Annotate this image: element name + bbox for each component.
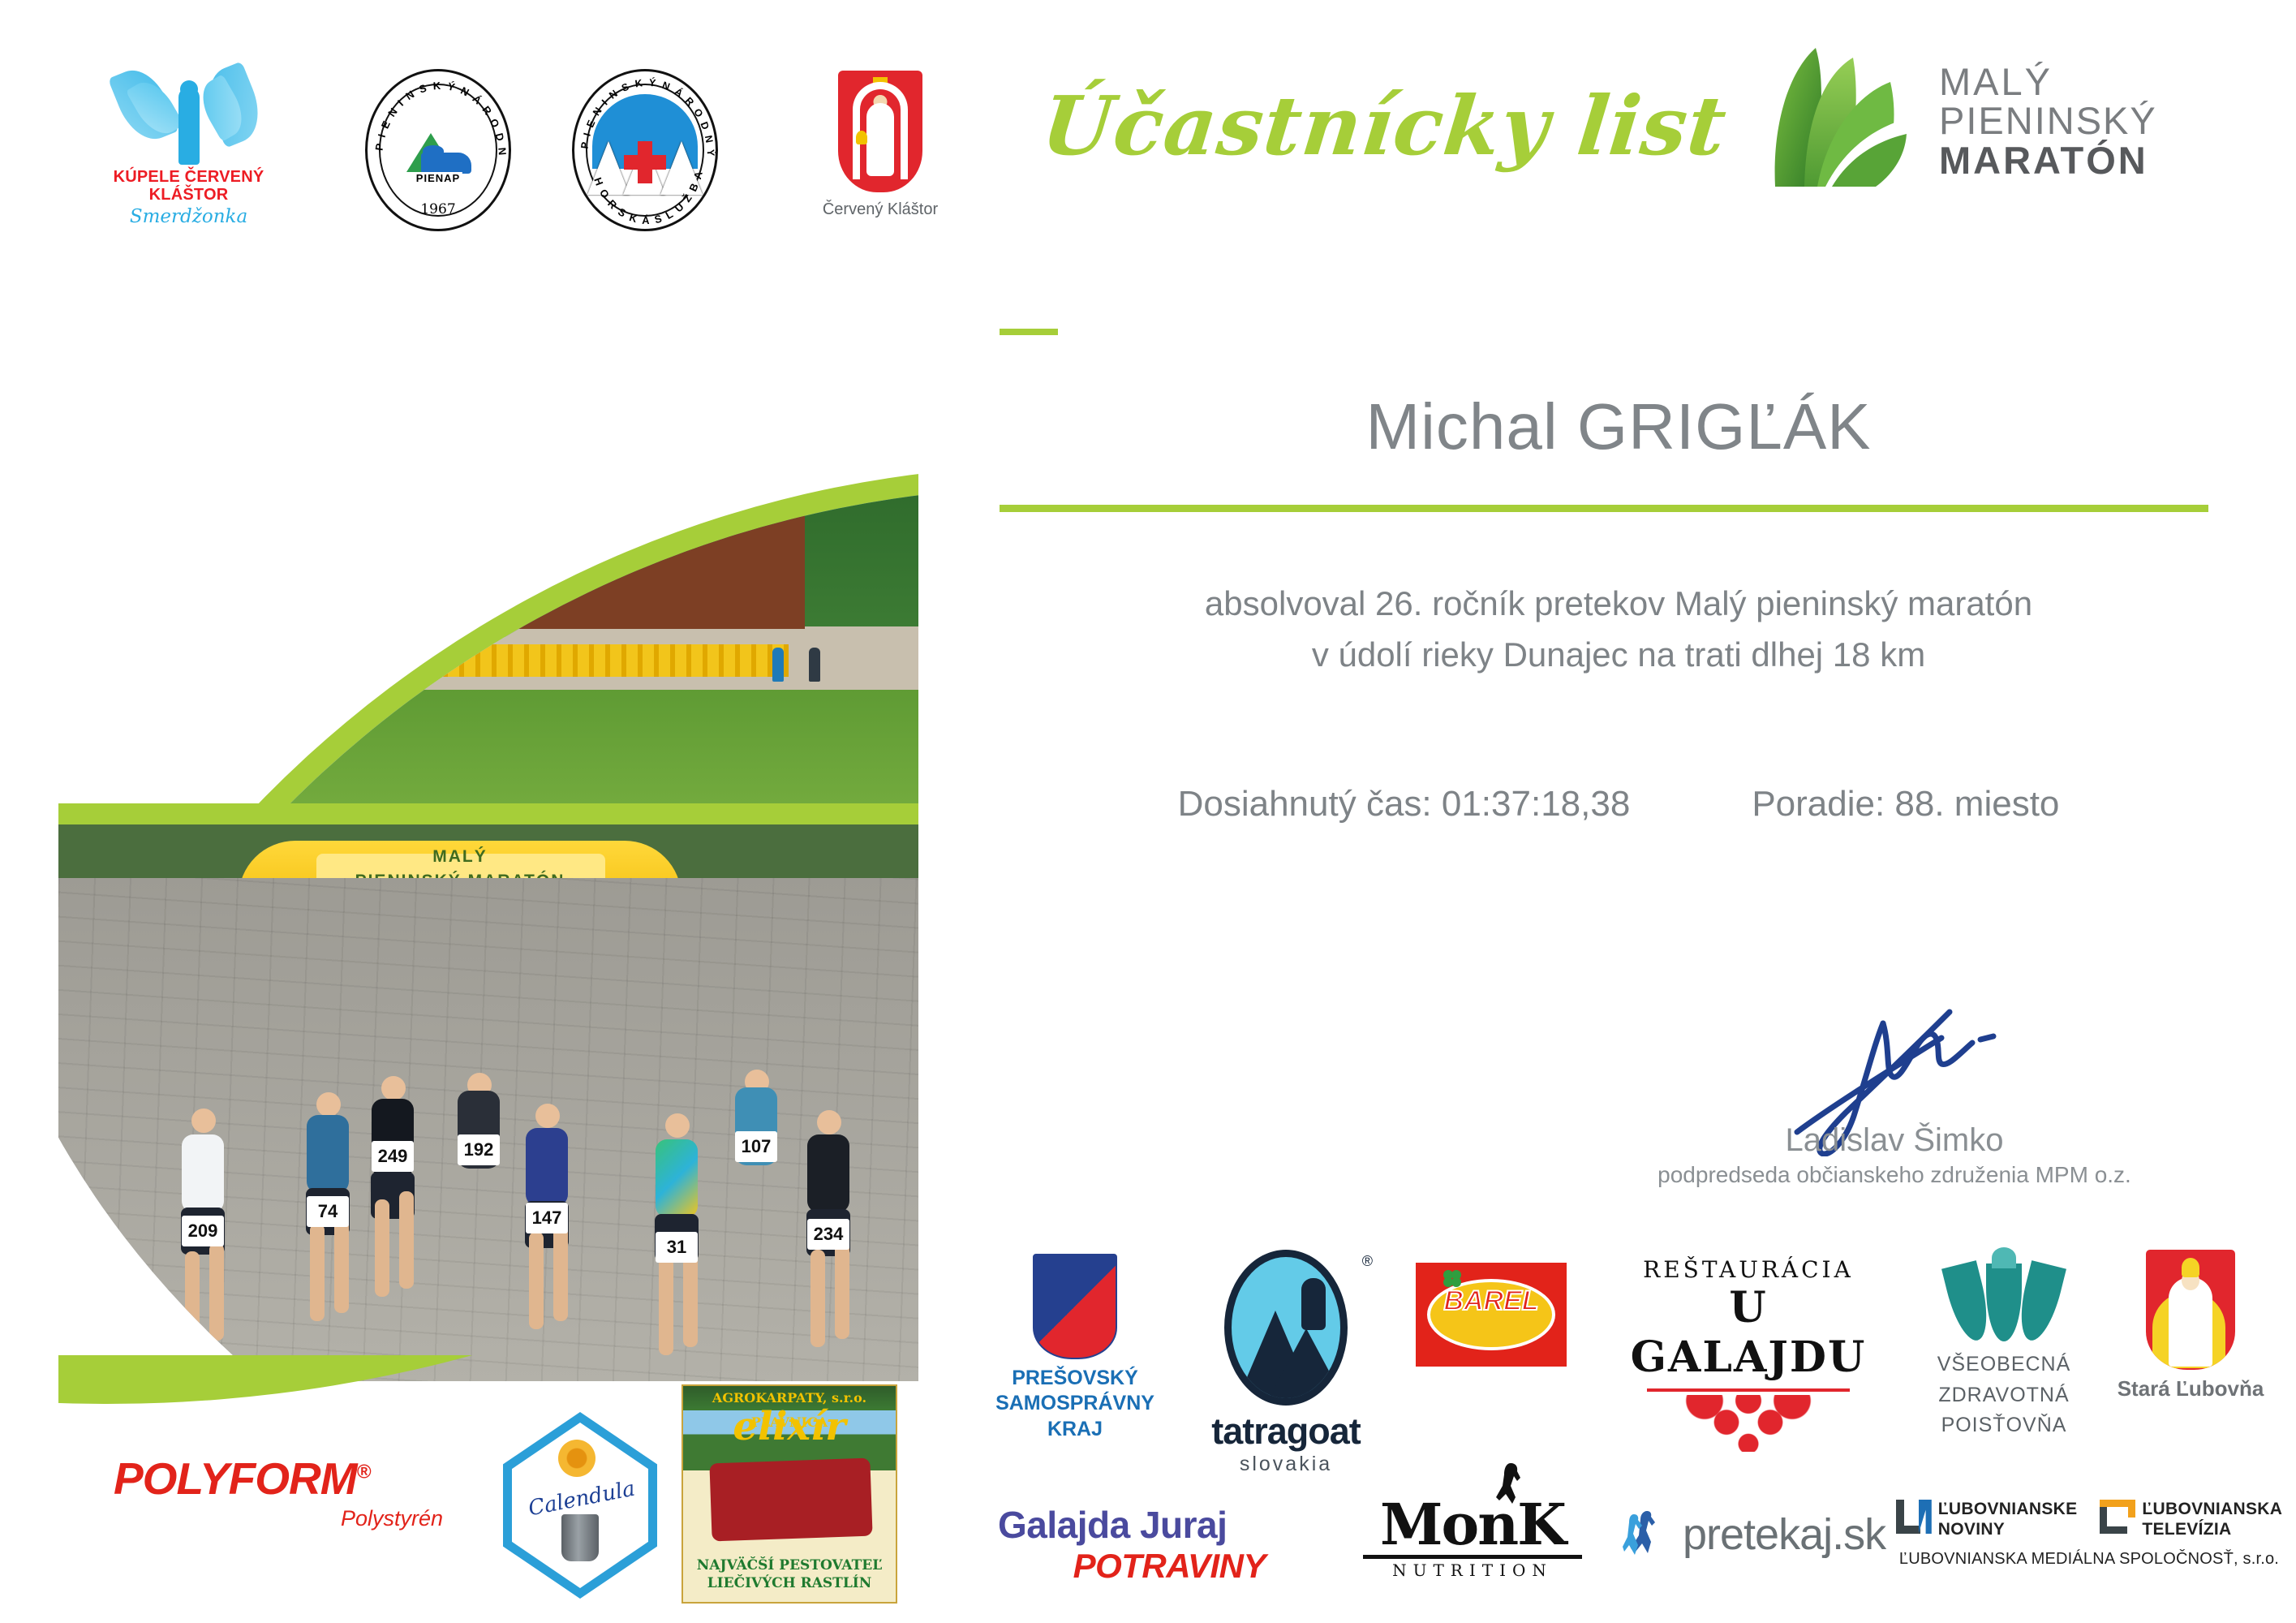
sponsor-restauracia-u-galajdu: REŠTAURÁCIA U GALAJDU [1610, 1256, 1886, 1452]
logo-cerveny-klastor-erb: Červený Kláštor [803, 71, 957, 219]
elixir-title: elixír [683, 1404, 896, 1449]
certificate-title: Účastnícky list [1038, 78, 1731, 174]
svg-text:P I E N I N S K Ý N Á R O D N: P I E N I N S K Ý N Á R O D N Ý P A R K [574, 71, 717, 158]
elixir-sub1: NAJVÄČŠÍ PESTOVATEĽ [683, 1556, 896, 1574]
lt-line2: TELEVÍZIA [2142, 1520, 2231, 1539]
photo-panel: MALÝ PIENINSKÝ MARATÓN 209 74 2 [58, 243, 918, 1380]
arch-line1: MALÝ [221, 847, 699, 867]
sponsor-pretekaj-sk: pretekaj.sk [1631, 1509, 1898, 1560]
svg-text:H O R S K Á S L U Ž B A: H O R S K Á S L U Ž B A [591, 169, 705, 226]
vzp-line2: ZDRAVOTNÁ [1915, 1380, 2093, 1411]
bib-number: 249 [372, 1141, 414, 1172]
psk-line2: SAMOSPRÁVNY [994, 1391, 1156, 1416]
sponsor-presovsky-samospravny-kraj: PREŠOVSKÝ SAMOSPRÁVNY KRAJ [994, 1254, 1156, 1442]
running-monk-icon [1493, 1462, 1525, 1505]
signature-name: Ladislav Šimko [1627, 1122, 2162, 1159]
registered-icon: ® [357, 1462, 371, 1483]
folk-pattern-icon [1675, 1395, 1821, 1452]
mountain-river-icon [403, 128, 473, 174]
sponsor-polyform: POLYFORM® Polystyrén [114, 1453, 454, 1531]
sponsor-barel: BAREL [1416, 1263, 1578, 1367]
maly-pieninsky-maraton-logo: MALÝ PIENINSKÝ MARATÓN [1769, 45, 2255, 191]
bib-number: 74 [307, 1196, 349, 1227]
galajda-line2: POTRAVINY [998, 1547, 1266, 1586]
stara-lubovna-label: Stará Ľubovňa [2109, 1376, 2272, 1401]
sponsor-lubovnianska-medialna-spolocnost: ĽUBOVNIANSKE NOVINY ĽUBOVNIANSKA TELEVÍZ… [1898, 1500, 2280, 1569]
lt-line1: ĽUBOVNIANSKA [2142, 1500, 2282, 1518]
venue-photo [58, 243, 918, 811]
polyform-title: POLYFORM [114, 1453, 357, 1504]
lt-mark-icon [2100, 1500, 2135, 1534]
monk-title: MonK [1355, 1497, 1590, 1553]
mpm-line2: PIENINSKÝ [1939, 101, 2255, 140]
mpm-line1: MALÝ [1939, 62, 2255, 101]
ugalajdu-top: REŠTAURÁCIA [1610, 1256, 1886, 1283]
partner-logo-strip: KÚPELE ČERVENÝ KLÁŠTOR Smerdžonka P I E … [89, 61, 949, 248]
sponsor-calendula: Calendula [503, 1412, 657, 1599]
pienap-label: PIENAP [414, 172, 462, 184]
mortar-pestle-icon [561, 1514, 599, 1561]
elixir-sub2: LIEČIVÝCH RASTLÍN [683, 1574, 896, 1592]
galajda-line1: Galajda Juraj [998, 1503, 1266, 1547]
monk-sub: NUTRITION [1355, 1561, 1590, 1580]
sponsor-galajda-juraj-potraviny: Galajda Juraj POTRAVINY [998, 1503, 1266, 1586]
ln-line1: ĽUBOVNIANSKE [1938, 1500, 2078, 1518]
pretekaj-title: pretekaj.sk [1683, 1509, 1898, 1560]
result-place: Poradie: 88. miesto [1752, 784, 2059, 824]
description-line2: v údolí rieky Dunajec na trati dlhej 18 … [998, 629, 2239, 680]
cerveny-klastor-label: Červený Kláštor [803, 200, 957, 219]
logo-lubovnianske-noviny: ĽUBOVNIANSKE NOVINY [1896, 1500, 2078, 1540]
goat-mountain-icon [1224, 1250, 1348, 1406]
horska-sluzba-oval: P I E N I N S K Ý N Á R O D N Ý P A R K … [572, 69, 718, 231]
psk-coat-of-arms-icon [1033, 1254, 1117, 1359]
pienap-oval: P I E N I N S K Ý N Á R O D N Ý P A R K … [365, 69, 511, 231]
accent-dash [1000, 329, 1058, 335]
media-company-label: ĽUBOVNIANSKA MEDIÁLNA SPOLOČNOSŤ, s.r.o. [1898, 1550, 2280, 1569]
results-row: Dosiahnutý čas: 01:37:18,38 Poradie: 88.… [998, 784, 2239, 824]
psk-line3: KRAJ [994, 1417, 1156, 1442]
recipient-name: Michal GRIGĽÁK [998, 390, 2239, 464]
ln-mark-icon [1896, 1500, 1932, 1534]
description-line1: absolvoval 26. ročník pretekov Malý pien… [998, 578, 2239, 629]
flower-icon [558, 1440, 595, 1477]
registered-icon: ® [1362, 1253, 1373, 1270]
sponsor-tatragoat: ® tatragoat slovakia [1193, 1250, 1379, 1476]
logo-kupele-cerveny-klastor: KÚPELE ČERVENÝ KLÁŠTOR Smerdžonka [89, 61, 288, 227]
bib-number: 192 [458, 1134, 500, 1165]
logo-horska-sluzba: P I E N I N S K Ý N Á R O D N Ý P A R K … [564, 69, 726, 231]
vzp-v-icon [1950, 1254, 2057, 1341]
signature-block: Ladislav Šimko podpredseda občianskeho z… [1627, 994, 2162, 1188]
sponsor-vseobecna-zdravotna-poistovna: VŠEOBECNÁ ZDRAVOTNÁ POISŤOVŇA [1915, 1254, 2093, 1441]
barel-title: BAREL [1416, 1285, 1567, 1317]
bib-number: 31 [656, 1232, 698, 1263]
kupele-line2: Smerdžonka [89, 206, 288, 227]
mpm-line3: MARATÓN [1939, 141, 2255, 180]
sponsor-agrokarpaty-elixir: AGROKARPATY, s.r.o. PLAVNICA elixír NAJV… [681, 1384, 897, 1604]
bib-number: 234 [807, 1219, 849, 1250]
sponsor-stara-lubovna: Stará Ľubovňa [2109, 1250, 2272, 1401]
psk-line1: PREŠOVSKÝ [994, 1366, 1156, 1391]
tatragoat-sub: slovakia [1193, 1453, 1379, 1476]
polyform-subtitle: Polystyrén [114, 1506, 454, 1531]
ugalajdu-title: U GALAJDU [1610, 1283, 1886, 1382]
logo-lubovnianska-televizia: ĽUBOVNIANSKA TELEVÍZIA [2100, 1500, 2282, 1540]
vzp-line3: POISŤOVŇA [1915, 1410, 2093, 1441]
runners-icon [1623, 1506, 1676, 1560]
coat-of-arms-icon [838, 71, 922, 192]
mpm-wordmark: MALÝ PIENINSKÝ MARATÓN [1939, 62, 2255, 180]
tatragoat-title: tatragoat [1193, 1410, 1379, 1453]
accent-rule [1000, 505, 2208, 512]
bib-number: 107 [735, 1131, 777, 1162]
signature-role: podpredseda občianskeho združenia MPM o.… [1627, 1162, 2162, 1188]
logo-pieninsky-narodny-park: P I E N I N S K Ý N Á R O D N Ý P A R K … [357, 69, 519, 231]
mountain-leaf-icon [1769, 45, 1919, 187]
bib-number: 147 [526, 1203, 568, 1233]
sponsor-monk-nutrition: MonK NUTRITION [1355, 1497, 1590, 1580]
ln-line2: NOVINY [1938, 1520, 2005, 1539]
result-time: Dosiahnutý čas: 01:37:18,38 [1178, 784, 1631, 824]
bib-number: 209 [182, 1216, 224, 1246]
vzp-line1: VŠEOBECNÁ [1915, 1350, 2093, 1380]
description-text: absolvoval 26. ročník pretekov Malý pien… [998, 578, 2239, 680]
kupele-line1: KÚPELE ČERVENÝ KLÁŠTOR [89, 168, 288, 204]
race-start-photo: MALÝ PIENINSKÝ MARATÓN 209 74 2 [58, 824, 918, 1381]
stara-lubovna-coat-of-arms-icon [2146, 1250, 2235, 1370]
angel-icon [89, 61, 288, 166]
pienap-year: 1967 [420, 201, 455, 217]
